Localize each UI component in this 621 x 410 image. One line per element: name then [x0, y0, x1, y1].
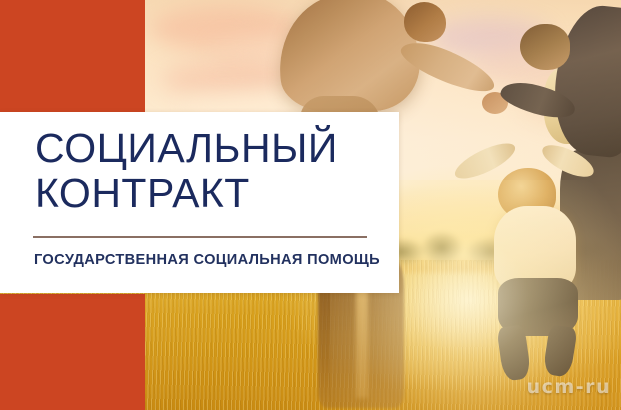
cloud-wisp: [430, 18, 550, 58]
child-right-arm: [538, 139, 598, 183]
mother-arm: [498, 76, 579, 124]
treeline: [380, 222, 621, 268]
page-title: СОЦИАЛЬНЫЙКОНТРАКТ: [35, 126, 338, 216]
cloud-wisp: [520, 80, 621, 126]
father-head: [404, 2, 446, 42]
title-line-2: КОНТРАКТ: [35, 170, 250, 216]
father-arm: [396, 33, 500, 101]
mother-head: [520, 24, 570, 70]
page-subtitle: ГОСУДАРСТВЕННАЯ СОЦИАЛЬНАЯ ПОМОЩЬ: [34, 252, 380, 268]
poster: СОЦИАЛЬНЫЙКОНТРАКТ ГОСУДАРСТВЕННАЯ СОЦИА…: [0, 0, 621, 410]
orange-block-top: [0, 0, 145, 113]
child-hair: [498, 168, 556, 220]
cloud-wisp: [470, 46, 620, 88]
father-figure: [271, 0, 425, 122]
orange-block-bottom: [0, 294, 145, 410]
title-card: СОЦИАЛЬНЫЙКОНТРАКТ ГОСУДАРСТВЕННАЯ СОЦИА…: [0, 112, 399, 293]
cloud-wisp: [160, 62, 290, 96]
divider-rule: [33, 236, 367, 238]
father-hand: [482, 92, 508, 114]
mother-top: [544, 66, 600, 144]
mother-figure: [548, 2, 621, 161]
cloud-wisp: [150, 6, 300, 52]
cloud-wisp: [300, 10, 440, 48]
child-left-arm: [451, 137, 520, 186]
title-line-1: СОЦИАЛЬНЫЙ: [35, 125, 338, 171]
cloud-wisp: [215, 34, 385, 74]
